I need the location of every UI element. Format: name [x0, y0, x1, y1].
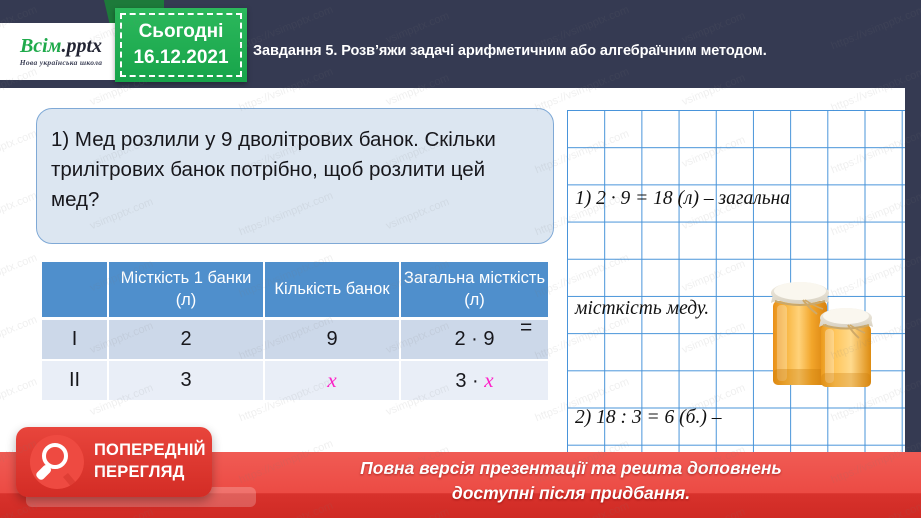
logo-wordmark: Всім.pptx — [20, 36, 102, 56]
preview-badge-label: ПОПЕРЕДНІЙ ПЕРЕГЛЯД — [94, 439, 206, 483]
solution-line: 1) 2 · 9 = 18 (л) – загальна — [575, 181, 900, 218]
solution-panel: 1) 2 · 9 = 18 (л) – загальна місткість м… — [567, 88, 905, 460]
cell-total-expr: 2 · 9 — [454, 328, 494, 350]
page-title: Завдання 5. Розв’яжи задачі арифметичним… — [253, 42, 767, 60]
cell-capacity: 3 — [108, 360, 264, 401]
cell-total: 3 · x — [400, 360, 548, 401]
task-statement-box: 1) Мед розлили у 9 дволітрових банок. Ск… — [36, 108, 554, 244]
logo-word-green: Всім — [20, 35, 61, 57]
task-statement-text: 1) Мед розлили у 9 дволітрових банок. Ск… — [51, 125, 535, 215]
unknown-x-value: x — [484, 368, 493, 392]
date-badge-value: 16.12.2021 — [133, 45, 228, 71]
slide-canvas: Всім.pptx Нова українська школа Сьогодні… — [0, 0, 921, 518]
header-title-container: Завдання 5. Розв’яжи задачі арифметичним… — [253, 22, 908, 80]
cell-capacity: 2 — [108, 319, 264, 361]
table-row: II 3 x 3 · x — [42, 360, 548, 401]
date-badge-label: Сьогодні — [139, 19, 224, 45]
cell-count: x — [264, 360, 400, 401]
table-header-row: Місткість 1 банки (л) Кількість банок За… — [42, 262, 548, 319]
purchase-banner-text: Повна версія презентації та решта доповн… — [236, 456, 906, 506]
cell-row-label: I — [42, 319, 108, 361]
preview-badge-line2: ПЕРЕГЛЯД — [94, 461, 206, 483]
col-header-capacity: Місткість 1 банки (л) — [108, 262, 264, 319]
equals-sign: = — [520, 316, 532, 340]
cell-count: 9 — [264, 319, 400, 361]
header-bar: Всім.pptx Нова українська школа Сьогодні… — [0, 0, 921, 88]
col-header-total: Загальна місткість (л) — [400, 262, 548, 319]
logo-word-dark: .pptx — [61, 35, 102, 57]
col-header-count: Кількість банок — [264, 262, 400, 319]
honey-jars-image — [763, 273, 881, 398]
search-icon — [30, 435, 84, 489]
cell-total-expr: 3 · — [455, 370, 484, 392]
col-header-index — [42, 262, 108, 319]
date-badge: Сьогодні 16.12.2021 — [115, 8, 247, 82]
table-row: I 2 9 2 · 9 — [42, 319, 548, 361]
cell-row-label: II — [42, 360, 108, 401]
solution-line: 2) 18 : 3 = 6 (б.) – — [575, 400, 900, 437]
preview-badge-line1: ПОПЕРЕДНІЙ — [94, 439, 206, 461]
logo-subtitle: Нова українська школа — [20, 58, 103, 67]
purchase-banner-line2: доступні після придбання. — [236, 481, 906, 506]
brand-logo[interactable]: Всім.pptx Нова українська школа — [0, 23, 122, 80]
preview-badge[interactable]: ПОПЕРЕДНІЙ ПЕРЕГЛЯД — [16, 427, 212, 497]
left-content-panel: 1) Мед розлили у 9 дволітрових банок. Ск… — [0, 88, 567, 460]
purchase-banner-line1: Повна версія презентації та решта доповн… — [236, 456, 906, 481]
calculation-table: Місткість 1 банки (л) Кількість банок За… — [42, 262, 548, 402]
unknown-x-value: x — [327, 368, 336, 392]
